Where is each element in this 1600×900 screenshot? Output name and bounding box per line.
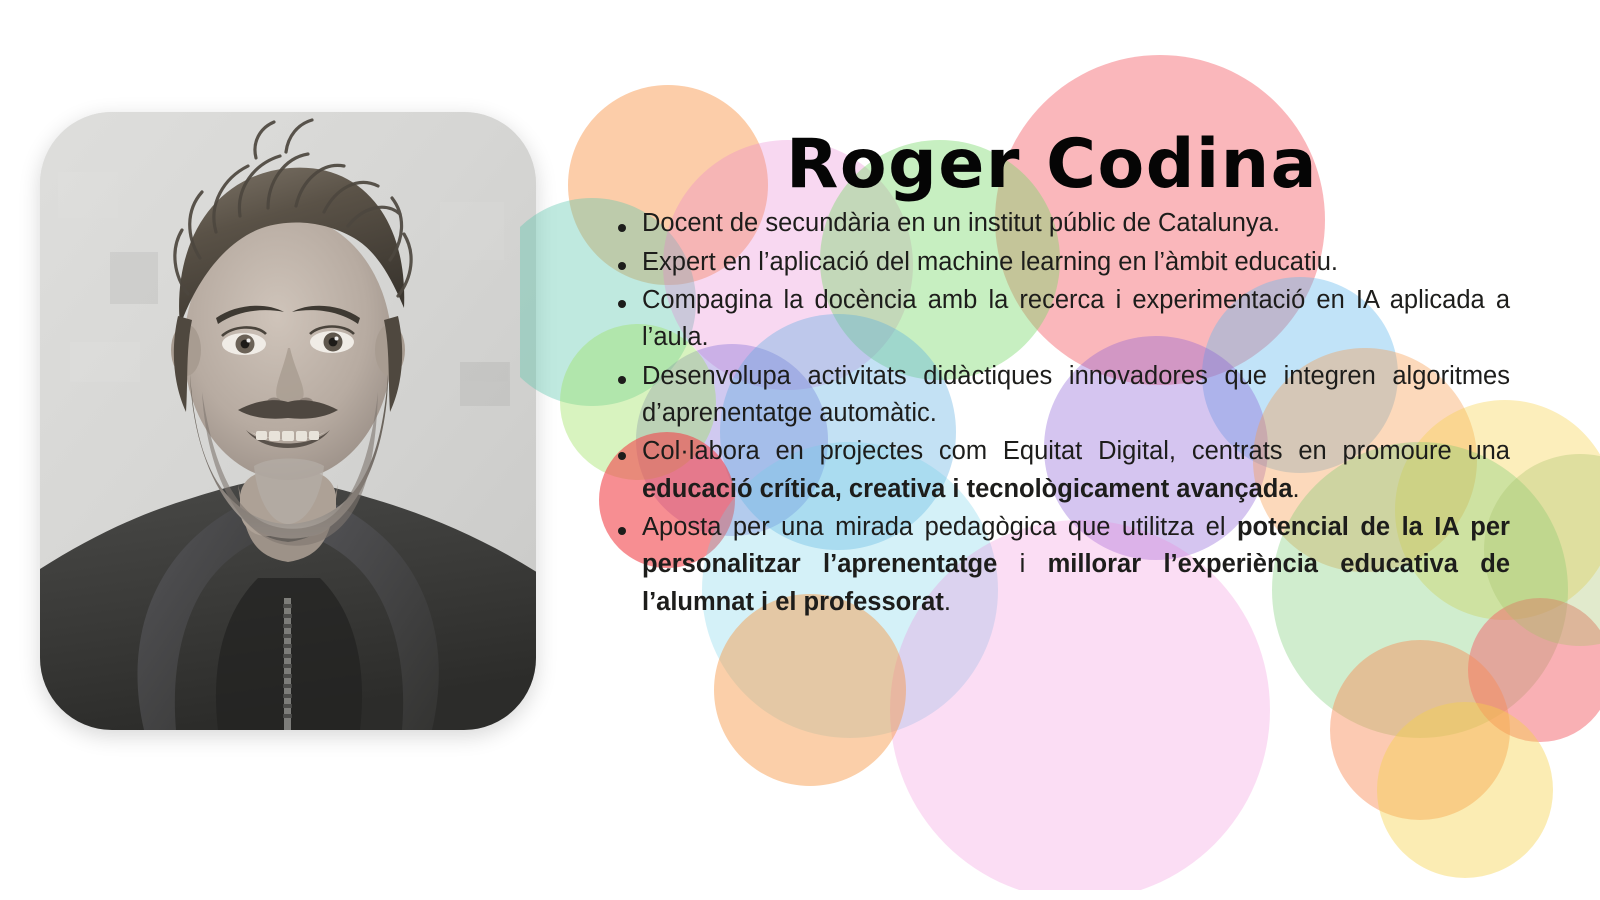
bio-text-run: i: [997, 550, 1047, 578]
bio-text-run: .: [1293, 475, 1300, 503]
decorative-circle-20: [1377, 702, 1553, 878]
bio-text-run: Col·labora en projectes com Equitat Digi…: [642, 437, 1510, 465]
portrait-photo: [40, 112, 536, 730]
bio-text-run: .: [944, 588, 951, 616]
bio-text-run: Docent de secundària en un institut públ…: [642, 209, 1280, 237]
bio-text-emphasis: educació crítica, creativa i tecnològica…: [642, 475, 1293, 503]
bio-content: Roger Codina Docent de secundària en un …: [600, 130, 1510, 622]
bio-bullet-item: Expert en l’aplicació del machine learni…: [600, 244, 1510, 281]
page-title: Roger Codina: [600, 130, 1510, 199]
bio-bullet-item: Aposta per una mirada pedagògica que uti…: [600, 509, 1510, 621]
bio-text-run: Aposta per una mirada pedagògica que uti…: [642, 513, 1237, 541]
bio-bullet-item: Col·labora en projectes com Equitat Digi…: [600, 433, 1510, 508]
bio-bullet-item: Docent de secundària en un institut públ…: [600, 205, 1510, 242]
bio-bullet-item: Compagina la docència amb la recerca i e…: [600, 282, 1510, 357]
bio-text-run: Compagina la docència amb la recerca i e…: [642, 286, 1510, 351]
bio-text-run: Expert en l’aplicació del machine learni…: [642, 248, 1338, 276]
decorative-circle-18: [714, 594, 906, 786]
bio-bullet-list: Docent de secundària en un institut públ…: [600, 205, 1510, 621]
slide-canvas: Roger Codina Docent de secundària en un …: [0, 0, 1600, 900]
bio-bullet-item: Desenvolupa activitats didàctiques innov…: [600, 358, 1510, 433]
decorative-circle-19: [1330, 640, 1510, 820]
bio-text-run: Desenvolupa activitats didàctiques innov…: [642, 362, 1510, 427]
